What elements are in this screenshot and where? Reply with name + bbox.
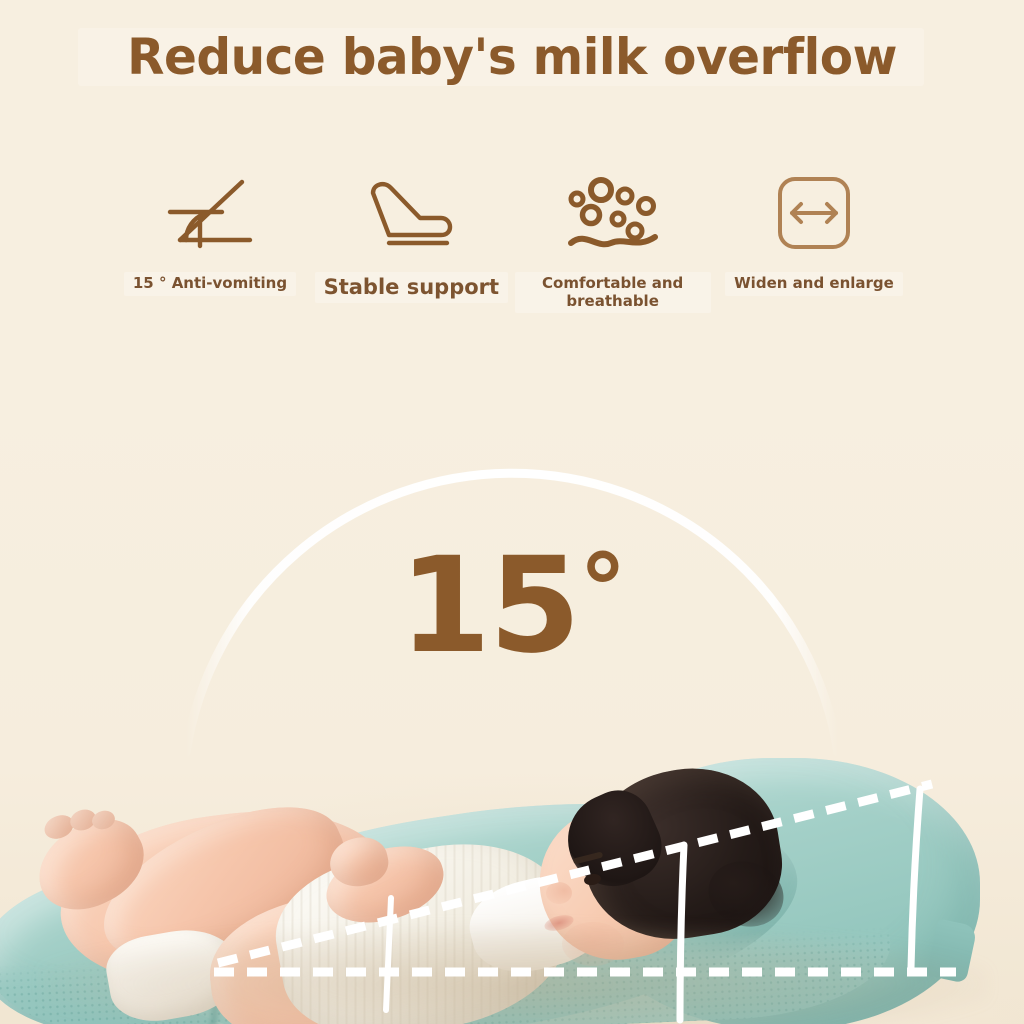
feature-label-anti-vomiting: 15 ° Anti-vomiting xyxy=(124,272,296,296)
floor-shadow xyxy=(40,924,990,1024)
degree-symbol: ° xyxy=(579,534,625,646)
feature-item-anti-vomiting: 15 ° Anti-vomiting xyxy=(112,170,308,296)
feature-label-breathable: Comfortable and breathable xyxy=(515,272,711,313)
hero-product-photo xyxy=(0,380,1024,1024)
page-title: Reduce baby's milk overflow xyxy=(15,24,1008,90)
angle-value-label: 15° xyxy=(0,540,1024,672)
angle-degree-icon xyxy=(164,170,256,256)
baby-nose xyxy=(546,882,572,904)
reclining-seat-icon xyxy=(359,170,463,256)
product-feature-page: Reduce baby's milk overflow 15 ° Anti-vo… xyxy=(0,0,1024,1024)
feature-row: 15 ° Anti-vomiting Stable support xyxy=(112,170,912,330)
feature-item-widen-enlarge: Widen and enlarge xyxy=(716,170,912,296)
feature-label-widen-enlarge: Widen and enlarge xyxy=(725,272,903,296)
widen-arrows-icon xyxy=(774,170,854,256)
title-band: Reduce baby's milk overflow xyxy=(0,24,1024,90)
breathable-bubbles-icon xyxy=(563,170,663,256)
feature-item-breathable: Comfortable and breathable xyxy=(515,170,711,313)
feature-label-stable-support: Stable support xyxy=(315,272,508,303)
feature-item-stable-support: Stable support xyxy=(313,170,509,303)
angle-number: 15 xyxy=(399,529,579,683)
